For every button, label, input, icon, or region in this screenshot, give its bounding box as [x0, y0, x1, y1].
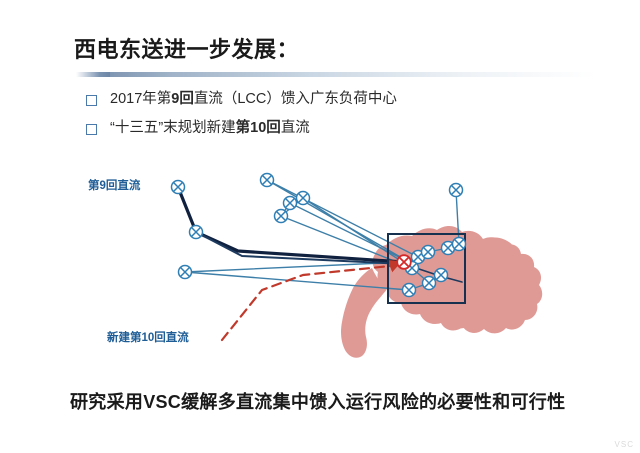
converter-station-node: [450, 184, 463, 197]
converter-station-node: [172, 181, 185, 194]
hvdc-line-10-label: 新建第10回直流: [107, 329, 189, 345]
bullet-text-2: “十三五”末规划新建第10回直流: [110, 119, 310, 137]
square-bullet-icon: [86, 95, 97, 106]
conclusion-statement: 研究采用VSC缓解多直流集中馈入运行风险的必要性和可行性: [70, 388, 565, 414]
slide-root: 西电东送进一步发展： 2017年第9回直流（LCC）馈入广东负荷中心 “十三五”…: [0, 0, 640, 453]
square-bullet-icon: [86, 124, 97, 135]
title-underline-rule: [76, 72, 596, 77]
bullet-list: 2017年第9回直流（LCC）馈入广东负荷中心 “十三五”末规划新建第10回直流: [86, 90, 556, 148]
converter-station-node: [179, 266, 192, 279]
hvdc-line-9-label: 第9回直流: [88, 177, 140, 193]
new-hvdc-infeed-node: [397, 255, 411, 269]
watermark-text: VSC: [615, 440, 634, 449]
list-item: “十三五”末规划新建第10回直流: [86, 119, 556, 137]
converter-station-node: [284, 197, 297, 210]
list-item: 2017年第9回直流（LCC）馈入广东负荷中心: [86, 90, 556, 108]
converter-station-node: [275, 210, 288, 223]
bullet-text-1: 2017年第9回直流（LCC）馈入广东负荷中心: [110, 90, 397, 108]
converter-station-node: [190, 226, 203, 239]
converter-station-node: [422, 246, 435, 259]
converter-station-node: [435, 269, 448, 282]
converter-station-node: [423, 277, 436, 290]
converter-station-node: [261, 174, 274, 187]
page-title: 西电东送进一步发展：: [74, 32, 299, 64]
converter-station-node: [403, 284, 416, 297]
converter-station-node: [453, 238, 466, 251]
converter-station-node: [297, 192, 310, 205]
